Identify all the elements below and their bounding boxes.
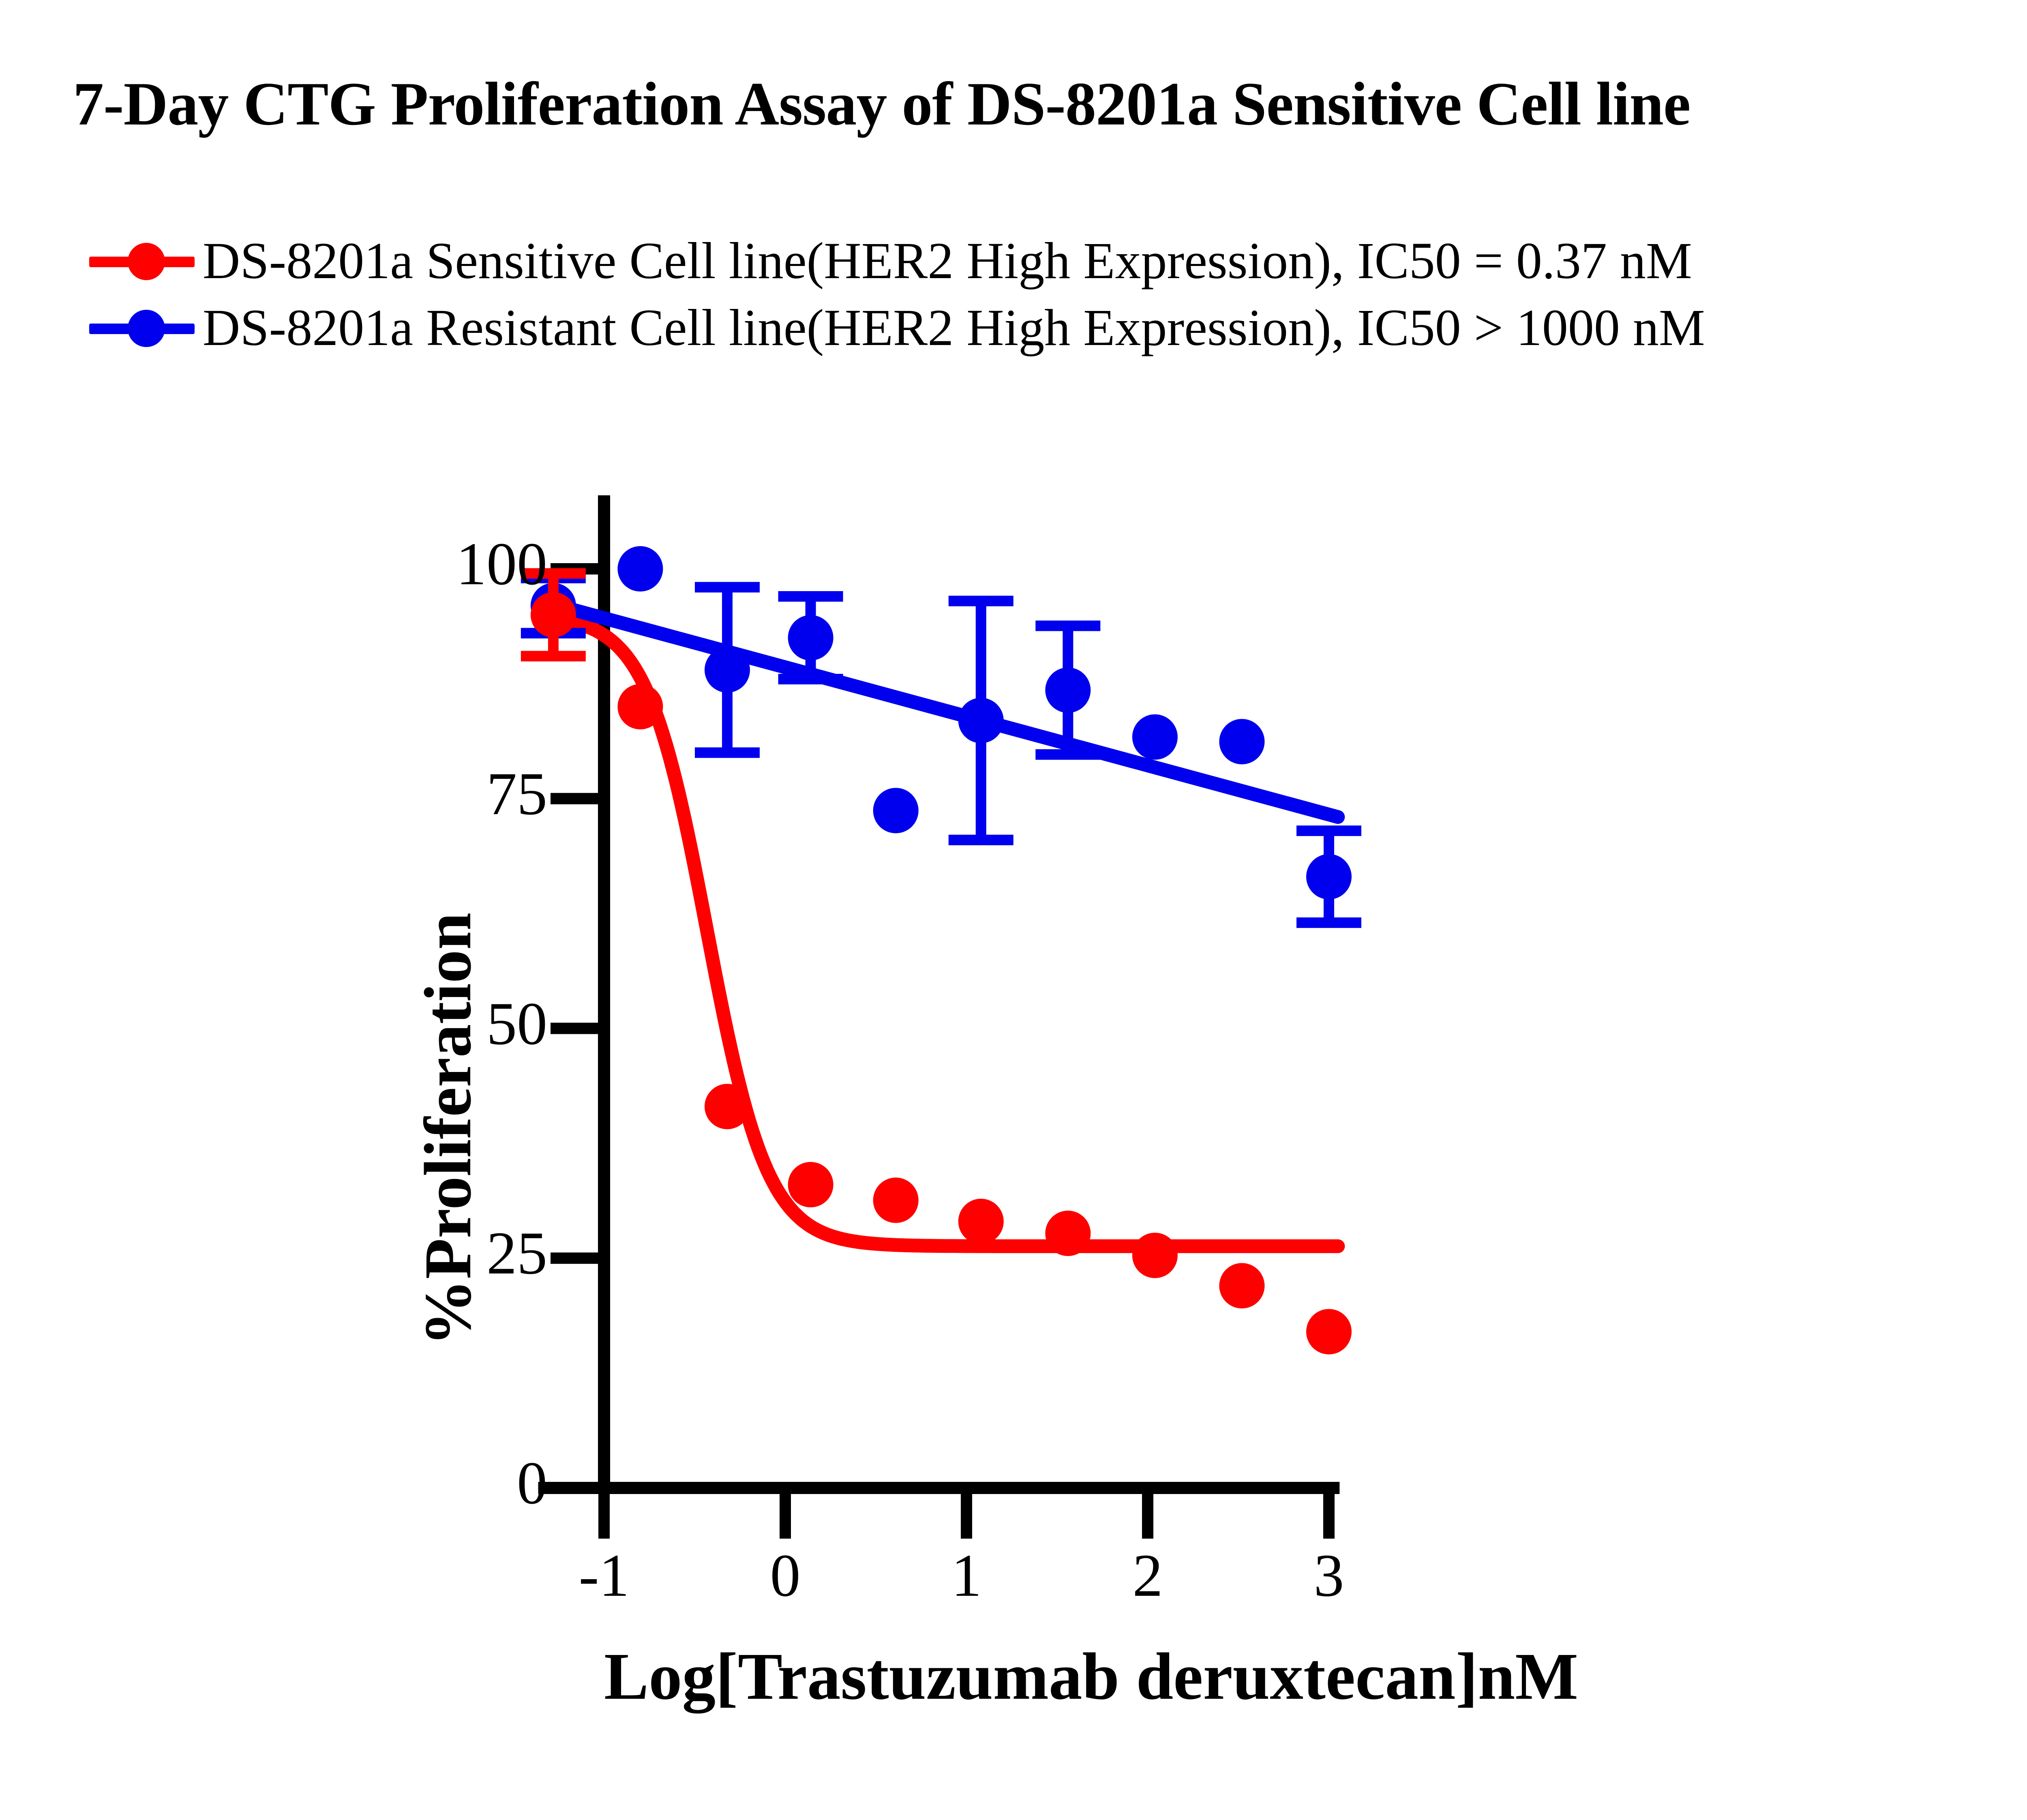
sensitive-errorcap-bottom-0	[521, 651, 586, 661]
sensitive-point-9	[1306, 1309, 1352, 1355]
x-tick-label--1: -1	[523, 1541, 685, 1610]
sensitive-point-5	[958, 1199, 1004, 1244]
y-tick-50	[551, 1023, 604, 1034]
x-tick-1	[961, 1493, 972, 1539]
y-tick-label-25: 25	[377, 1218, 547, 1288]
x-tick-3	[1323, 1493, 1335, 1539]
x-tick-label-2: 2	[1067, 1541, 1229, 1610]
y-tick-0	[551, 1482, 604, 1494]
sensitive-point-1	[617, 684, 663, 729]
resistant-errorcap-bottom-6	[1035, 749, 1100, 760]
sensitive-point-7	[1132, 1233, 1178, 1278]
y-tick-label-0: 0	[377, 1448, 547, 1518]
resistant-point-1	[617, 546, 663, 592]
resistant-point-8	[1219, 719, 1264, 764]
y-tick-label-75: 75	[377, 759, 547, 829]
resistant-errorcap-bottom-5	[949, 835, 1013, 845]
y-tick-label-100: 100	[377, 529, 547, 599]
resistant-errorcap-top-9	[1296, 825, 1361, 836]
x-tick-label-3: 3	[1248, 1541, 1410, 1610]
chart-page: 7-Day CTG Proliferation Assay of DS-8201…	[0, 0, 2027, 1818]
resistant-point-6	[1045, 667, 1091, 713]
x-tick--1	[598, 1493, 610, 1539]
x-axis-line	[538, 1482, 1340, 1494]
resistant-errorcap-bottom-9	[1296, 918, 1361, 928]
x-tick-0	[780, 1493, 791, 1539]
resistant-errorcap-top-3	[778, 591, 843, 602]
x-tick-2	[1142, 1493, 1153, 1539]
resistant-errorcap-bottom-3	[778, 674, 843, 684]
sensitive-point-3	[788, 1162, 834, 1207]
resistant-point-2	[705, 647, 750, 692]
resistant-errorcap-top-2	[695, 582, 760, 592]
y-tick-75	[551, 793, 604, 804]
sensitive-point-8	[1219, 1263, 1264, 1308]
resistant-point-7	[1132, 714, 1178, 760]
resistant-errorcap-bottom-2	[695, 747, 760, 758]
resistant-errorcap-top-6	[1035, 621, 1100, 631]
y-tick-label-50: 50	[377, 989, 547, 1059]
resistant-point-3	[788, 615, 834, 660]
resistant-point-9	[1306, 854, 1352, 899]
x-tick-label-0: 0	[704, 1541, 866, 1610]
sensitive-point-0	[531, 592, 576, 637]
resistant-errorcap-top-5	[949, 596, 1013, 606]
x-tick-label-1: 1	[885, 1541, 1048, 1610]
y-tick-25	[551, 1252, 604, 1264]
resistant-point-4	[873, 788, 919, 833]
resistant-point-5	[958, 698, 1004, 743]
x-axis-label: Log[Trastuzumab deruxtecan]nM	[604, 1638, 1374, 1715]
sensitive-point-4	[873, 1177, 919, 1223]
sensitive-point-6	[1045, 1211, 1091, 1256]
sensitive-point-2	[705, 1084, 750, 1129]
